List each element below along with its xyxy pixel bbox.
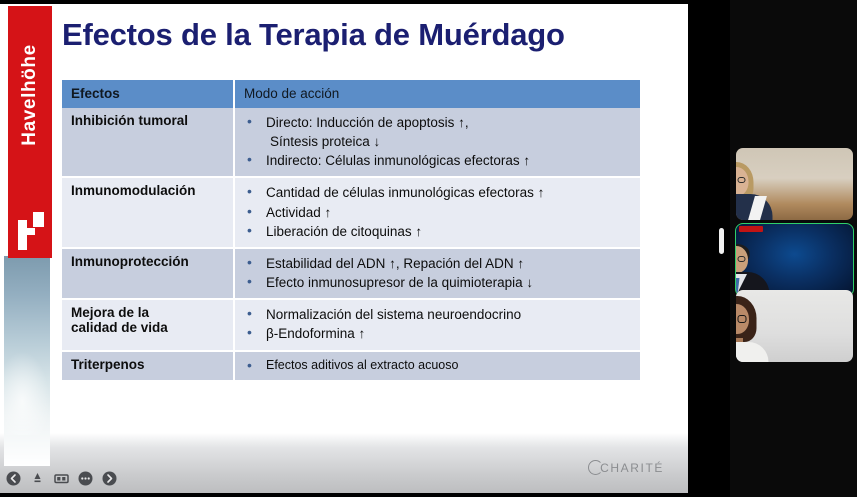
row-effect-label: Inmunomodulación <box>62 177 234 247</box>
table-row: Mejora de la calidad de vida Normalizaci… <box>62 299 640 350</box>
list-item: Efectos aditivos al extracto acuoso <box>244 357 632 375</box>
list-item: Síntesis proteica ↓ <box>244 132 632 151</box>
glasses-icon <box>736 177 745 183</box>
previous-slide-button[interactable] <box>6 471 21 486</box>
list-item: Indirecto: Células inmunológicas efector… <box>244 151 632 170</box>
row-effect-line-2: calidad de vida <box>71 320 225 335</box>
list-item: Efecto inmunosupresor de la quimioterapi… <box>244 273 632 292</box>
slide-thumbnails-button[interactable] <box>54 471 69 486</box>
video-meeting-window: Havelhöhe Efectos de la Terapia de Muérd… <box>0 0 857 497</box>
row-effect-label: Inmunoprotección <box>62 248 234 299</box>
glasses-icon <box>736 315 746 323</box>
list-item: Directo: Inducción de apoptosis ↑, <box>244 113 632 132</box>
column-header-modo-de-accion: Modo de acción <box>234 80 640 108</box>
row-effect-line-1: Mejora de la <box>71 305 225 320</box>
table-row: Inmunoprotección Estabilidad del ADN ↑, … <box>62 248 640 299</box>
next-slide-button[interactable] <box>102 471 117 486</box>
havelhoehe-cross-logo <box>18 212 44 252</box>
participant-tile-3[interactable] <box>736 290 853 362</box>
effects-table: Efectos Modo de acción Inhibición tumora… <box>62 80 640 382</box>
charite-logo: CHARITÉ <box>588 460 664 475</box>
panel-resize-handle[interactable] <box>719 228 724 254</box>
participant-avatar <box>736 290 795 362</box>
annotation-pen-button[interactable] <box>30 471 45 486</box>
slide-title: Efectos de la Terapia de Muérdago <box>62 17 565 53</box>
list-item: Cantidad de células inmunológicas efecto… <box>244 183 632 202</box>
list-item: Normalización del sistema neuroendocrino <box>244 305 632 324</box>
table-row: Triterpenos Efectos aditivos al extracto… <box>62 351 640 382</box>
presenter-toolbar[interactable] <box>6 471 117 486</box>
column-header-efectos: Efectos <box>62 80 234 108</box>
participant-tile-1[interactable] <box>736 148 853 220</box>
brand-name-label: Havelhöhe <box>19 27 41 163</box>
table-row: Inmunomodulación Cantidad de células inm… <box>62 177 640 247</box>
list-item: Actividad ↑ <box>244 203 632 222</box>
list-item: Estabilidad del ADN ↑, Repación del ADN … <box>244 254 632 273</box>
row-effect-label: Inhibición tumoral <box>62 108 234 177</box>
participant-avatar <box>736 148 795 220</box>
row-effect-label: Triterpenos <box>62 351 234 382</box>
list-item: β-Endoformina ↑ <box>244 324 632 343</box>
list-item: Liberación de citoquinas ↑ <box>244 222 632 241</box>
decorative-photo-strip <box>4 256 50 466</box>
row-mode-cell: Estabilidad del ADN ↑, Repación del ADN … <box>234 248 640 299</box>
charite-wordmark: CHARITÉ <box>600 461 664 475</box>
table-header-row: Efectos Modo de acción <box>62 80 640 108</box>
row-mode-cell: Normalización del sistema neuroendocrino… <box>234 299 640 350</box>
more-options-button[interactable] <box>78 471 93 486</box>
presentation-slide: Havelhöhe Efectos de la Terapia de Muérd… <box>0 4 688 493</box>
participant-tile-2[interactable] <box>736 224 853 296</box>
participant-filmstrip <box>730 0 857 497</box>
participant-avatar <box>736 224 795 296</box>
row-mode-cell: Efectos aditivos al extracto acuoso <box>234 351 640 382</box>
row-mode-cell: Cantidad de células inmunológicas efecto… <box>234 177 640 247</box>
slide-letterbox <box>688 4 712 493</box>
havelhoehe-brand-bar: Havelhöhe <box>8 6 52 258</box>
row-mode-cell: Directo: Inducción de apoptosis ↑, Sínte… <box>234 108 640 177</box>
glasses-icon <box>736 256 745 262</box>
shared-screen-stage[interactable]: Havelhöhe Efectos de la Terapia de Muérd… <box>0 4 712 493</box>
table-row: Inhibición tumoral Directo: Inducción de… <box>62 108 640 177</box>
row-effect-label: Mejora de la calidad de vida <box>62 299 234 350</box>
